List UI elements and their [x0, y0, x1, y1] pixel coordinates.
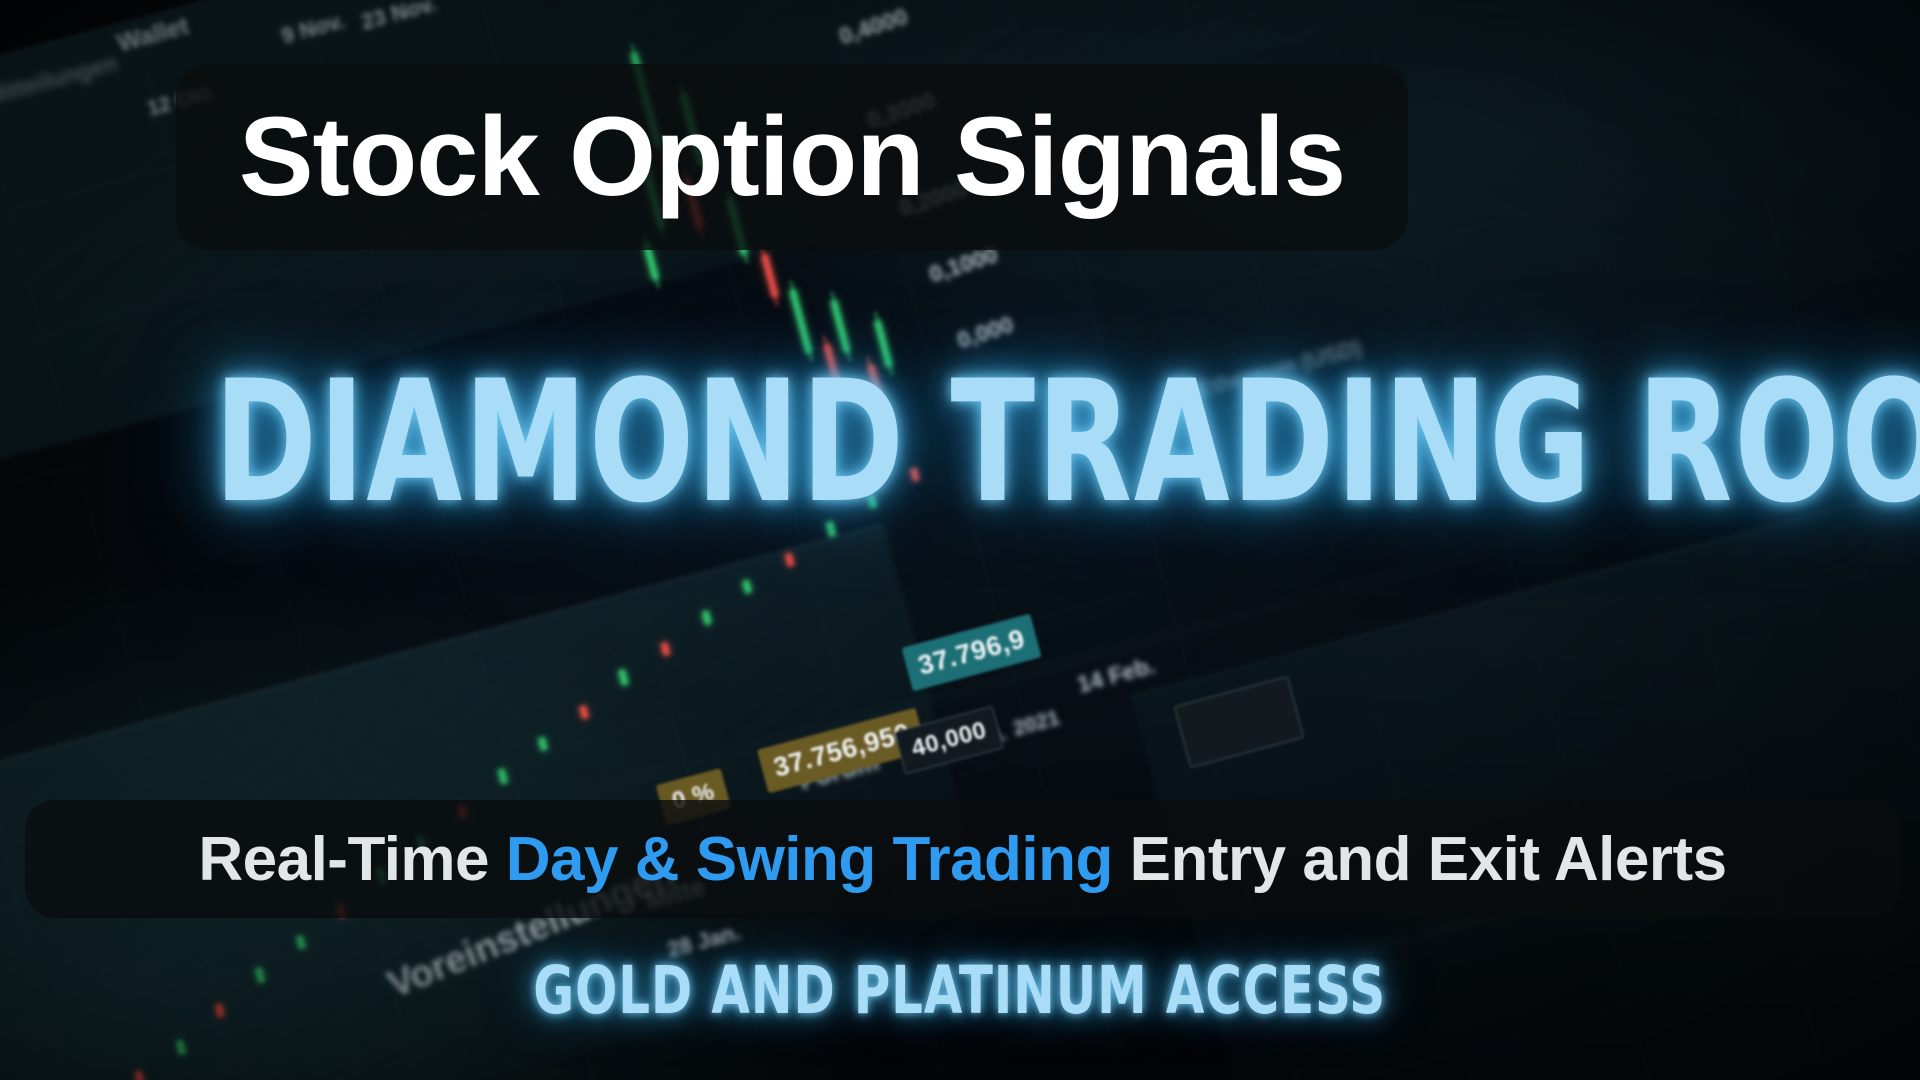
tagline: Real-Time Day & Swing Trading Entry and …	[198, 824, 1726, 895]
page-title: Stock Option Signals	[239, 101, 1345, 213]
promo-banner: Wallet Mitteilungen 9 Nov. 23 Nov. 12 Ok…	[0, 0, 1920, 1080]
tagline-part-2: Entry and Exit Alerts	[1113, 825, 1727, 894]
tagline-part-1: Real-Time	[198, 825, 505, 894]
subline-wrap: GOLD AND PLATINUM ACCESS	[0, 958, 1920, 1024]
tagline-banner: Real-Time Day & Swing Trading Entry and …	[25, 800, 1900, 918]
headline-wrap: DIAMOND TRADING ROOMS	[0, 358, 1920, 526]
headline: DIAMOND TRADING ROOMS	[214, 358, 1920, 526]
title-banner: Stock Option Signals	[176, 64, 1408, 250]
tagline-highlight: Day & Swing Trading	[506, 825, 1113, 894]
subline: GOLD AND PLATINUM ACCESS	[534, 958, 1387, 1024]
